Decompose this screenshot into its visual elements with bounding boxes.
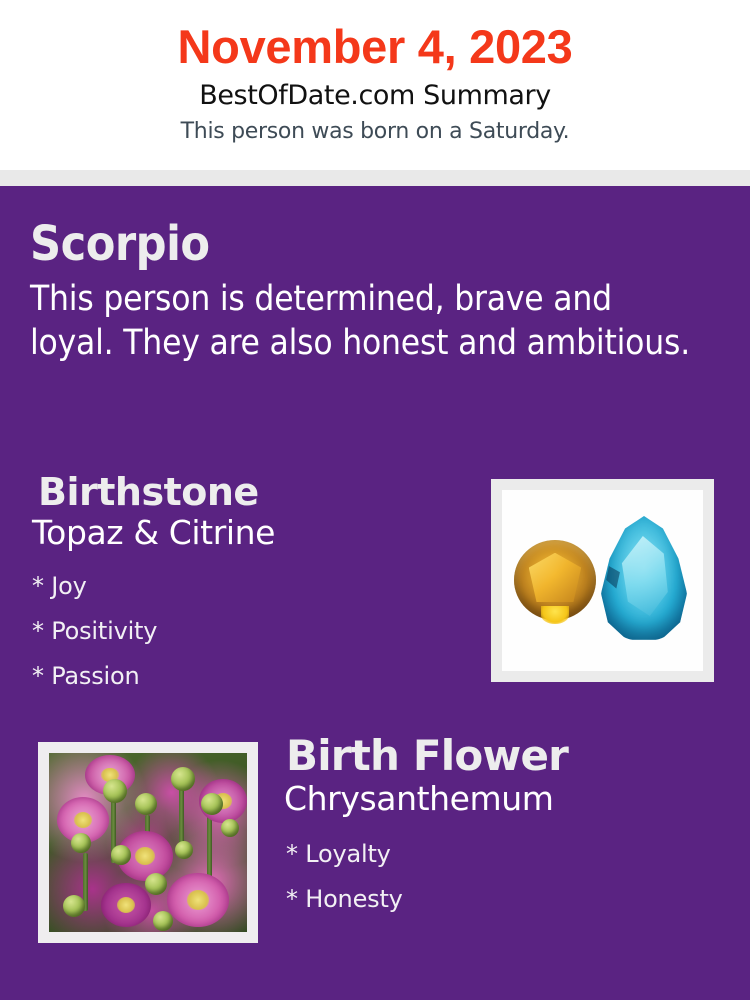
- flower-bud: [153, 911, 173, 931]
- flower-bud: [221, 819, 239, 837]
- birthstone-heading: Birthstone: [38, 473, 468, 513]
- flower-bud: [71, 833, 91, 853]
- zodiac-description: This person is determined, brave and loy…: [30, 278, 695, 366]
- zodiac-sign-name: Scorpio: [30, 220, 710, 268]
- list-item: * Loyalty: [286, 832, 726, 877]
- chrysanthemum-bloom: [167, 873, 229, 927]
- birth-flower-image-frame: [38, 742, 258, 943]
- list-item: * Positivity: [32, 609, 468, 654]
- birthstone-trait-list: * Joy * Positivity * Passion: [32, 564, 468, 699]
- birthstone-section: Birthstone Topaz & Citrine * Joy * Posit…: [38, 473, 468, 699]
- header-divider: [0, 170, 750, 186]
- list-item: * Honesty: [286, 877, 726, 922]
- flower-bud: [201, 793, 223, 815]
- flower-bud: [175, 841, 193, 859]
- flower-bud: [103, 779, 127, 803]
- birthstone-image-frame: [491, 479, 714, 682]
- site-summary-subtitle: BestOfDate.com Summary: [0, 80, 750, 112]
- birth-flower-subtitle: Chrysanthemum: [284, 781, 726, 818]
- flower-bud: [111, 845, 131, 865]
- summary-panel: Scorpio This person is determined, brave…: [0, 186, 750, 1000]
- flower-stem: [179, 783, 184, 849]
- list-item: * Passion: [32, 654, 468, 699]
- birth-flower-section: Birth Flower Chrysanthemum * Loyalty * H…: [286, 734, 726, 922]
- page-title-date: November 4, 2023: [0, 22, 750, 73]
- blue-topaz-gem-icon: [601, 516, 687, 641]
- birth-flower-heading: Birth Flower: [286, 734, 726, 778]
- zodiac-section: Scorpio This person is determined, brave…: [30, 220, 710, 366]
- flower-bud: [171, 767, 195, 791]
- birth-flower-image: [49, 753, 247, 932]
- flower-bud: [135, 793, 157, 815]
- flower-bud: [63, 895, 85, 917]
- flower-bud: [145, 873, 167, 895]
- born-weekday-text: This person was born on a Saturday.: [0, 119, 750, 145]
- birthstone-image: [502, 490, 703, 671]
- list-item: * Joy: [32, 564, 468, 609]
- citrine-gem-icon: [514, 540, 596, 620]
- birthstone-subtitle: Topaz & Citrine: [32, 515, 468, 552]
- chrysanthemum-bloom: [101, 883, 151, 927]
- birth-flower-trait-list: * Loyalty * Honesty: [286, 832, 726, 922]
- page-header: November 4, 2023 BestOfDate.com Summary …: [0, 0, 750, 170]
